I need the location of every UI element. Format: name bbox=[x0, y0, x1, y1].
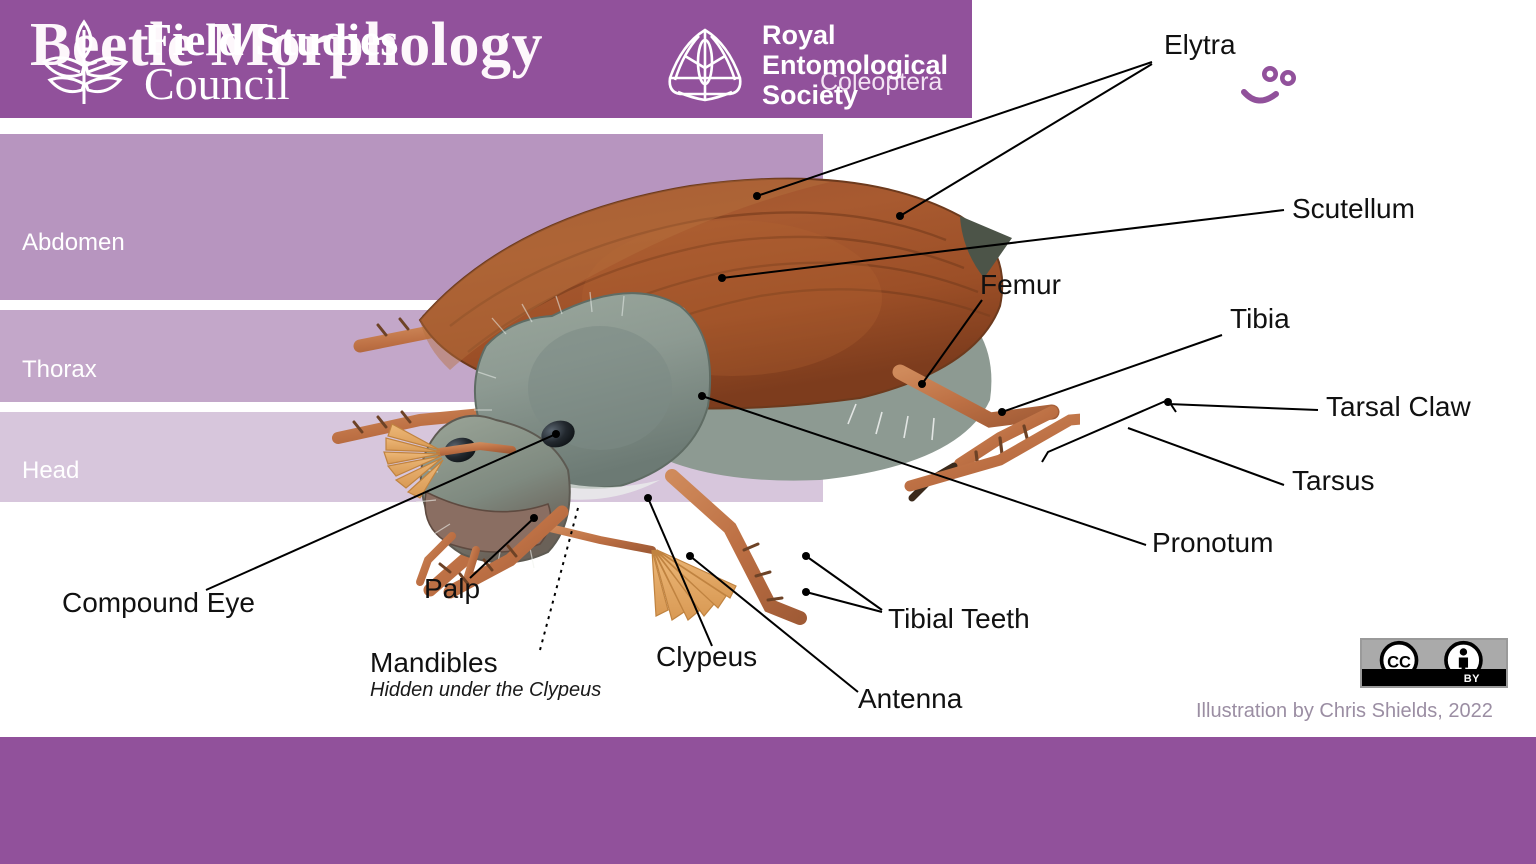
cc-license-badge[interactable]: CC BY bbox=[1360, 638, 1508, 688]
heritage-fund-logo[interactable]: R Made possible with Heritage Fund bbox=[1206, 18, 1496, 122]
heritage-fund-wordmark: Made possible with Heritage Fund bbox=[1320, 18, 1496, 122]
res-line-3: Society bbox=[762, 80, 948, 110]
illustration-credit: Illustration by Chris Shields, 2022 bbox=[1196, 700, 1493, 723]
region-label-thorax: Thorax bbox=[22, 356, 97, 384]
label-mandibles-text: Mandibles bbox=[370, 647, 498, 678]
region-label-abdomen: Abdomen bbox=[22, 229, 125, 257]
res-line-1: Royal bbox=[762, 20, 948, 50]
label-palp: Palp bbox=[424, 574, 480, 603]
label-mandibles-note: Hidden under the Clypeus bbox=[370, 680, 601, 701]
field-studies-council-logo[interactable]: Field Studies Council bbox=[36, 16, 398, 108]
footer-bar bbox=[0, 737, 1536, 864]
lottery-hand-icon: R bbox=[1206, 22, 1310, 118]
fsc-wordmark: Field Studies Council bbox=[144, 17, 398, 106]
label-tibia: Tibia bbox=[1230, 304, 1290, 333]
moth-icon bbox=[662, 22, 748, 108]
beetle-morphology-poster: Beetle Morphology Coleoptera Abdomen Tho… bbox=[0, 0, 1536, 864]
heritage-line-2: Fund bbox=[1320, 80, 1496, 122]
label-femur: Femur bbox=[980, 270, 1061, 299]
label-clypeus: Clypeus bbox=[656, 642, 757, 671]
label-tibial-teeth: Tibial Teeth bbox=[888, 604, 1030, 633]
res-line-2: Entomological bbox=[762, 50, 948, 80]
fsc-line-1: Field Studies bbox=[144, 17, 398, 62]
label-compound-eye: Compound Eye bbox=[62, 588, 255, 617]
label-pronotum: Pronotum bbox=[1152, 528, 1273, 557]
antenna-lower bbox=[550, 528, 736, 620]
region-label-head: Head bbox=[22, 457, 79, 485]
cc-badge-by-text: BY bbox=[1464, 673, 1480, 685]
fsc-line-2: Council bbox=[144, 61, 398, 107]
label-scutellum: Scutellum bbox=[1292, 194, 1415, 223]
label-antenna: Antenna bbox=[858, 684, 962, 713]
res-wordmark: Royal Entomological Society bbox=[762, 20, 948, 111]
svg-text:R: R bbox=[1297, 107, 1302, 114]
label-tarsus: Tarsus bbox=[1292, 466, 1374, 495]
cc-badge-strip bbox=[1362, 669, 1506, 686]
leaf-icon bbox=[36, 16, 132, 108]
beetle-illustration bbox=[300, 120, 1080, 630]
label-tarsal-claw: Tarsal Claw bbox=[1326, 392, 1471, 421]
label-mandibles: Mandibles Hidden under the Clypeus bbox=[370, 648, 601, 701]
royal-entomological-society-logo[interactable]: Royal Entomological Society bbox=[662, 20, 948, 111]
heritage-line-1: Heritage bbox=[1320, 36, 1496, 78]
